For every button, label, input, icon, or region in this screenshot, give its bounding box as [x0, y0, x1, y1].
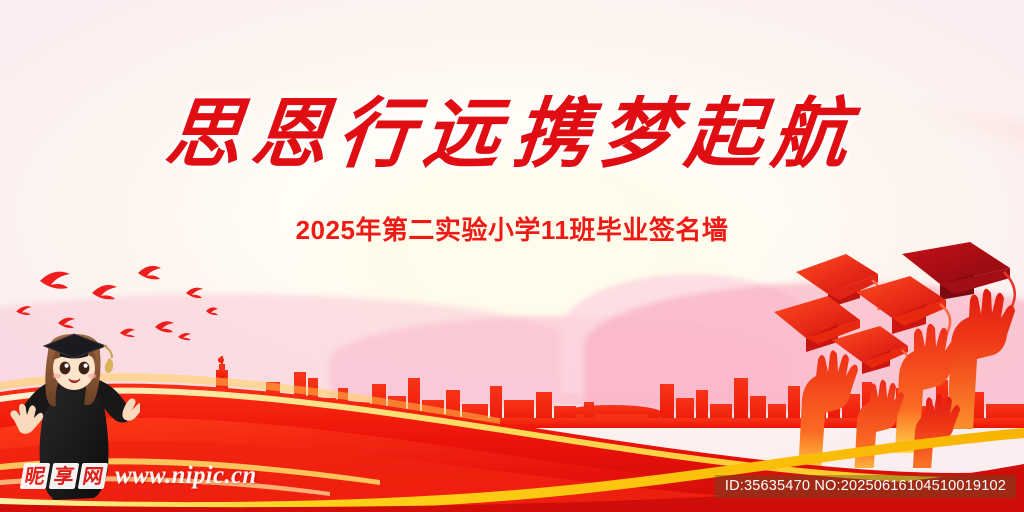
- graduation-cap-2: [796, 254, 882, 310]
- poster-canvas: 思恩行远 携梦起航 2025年第二实验小学11班毕业签名墙 昵 享 网 www.…: [0, 0, 1024, 512]
- watermark: 昵 享 网 www.nipic.cn: [22, 462, 257, 490]
- subtitle-block: 2025年第二实验小学11班毕业签名墙: [0, 210, 1024, 247]
- subtitle-text: 2025年第二实验小学11班毕业签名墙: [296, 210, 729, 247]
- watermark-brand-char-2: 享: [49, 463, 80, 489]
- watermark-brand-char-1: 昵: [20, 463, 51, 489]
- watermark-url: www.nipic.cn: [115, 462, 257, 490]
- watermark-brand-char-3: 网: [78, 463, 109, 489]
- watermark-brand: 昵 享 网: [22, 463, 106, 489]
- image-id-bar: ID:35635470 NO:20250616104510019102: [715, 475, 1016, 498]
